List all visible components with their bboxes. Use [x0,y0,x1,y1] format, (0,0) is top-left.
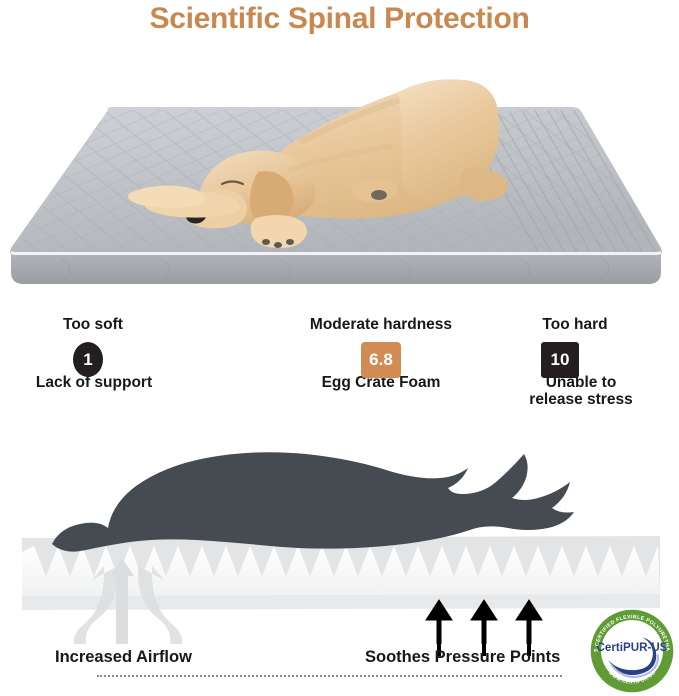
scale-badge-6-8: 6.8 [361,342,401,378]
label-soothes-pressure-points: Soothes Pressure Points [365,648,560,667]
scale-label-too-soft: Too soft [18,316,168,334]
pressure-point-arrows [426,600,542,644]
sublabel-line-2: release stress [529,391,632,408]
foam-cross-section-diagram [0,428,679,644]
product-infographic: Scientific Spinal Protection [0,0,679,696]
certipur-us-badge: CertiPUR-US CONTAINS CERTIFIED FLEXIBLE … [589,608,675,694]
scale-label-moderate: Moderate hardness [291,316,471,334]
page-title: Scientific Spinal Protection [0,2,679,36]
scale-badge-10: 10 [541,342,579,378]
product-hero-image [0,50,679,290]
badge-wordmark: CertiPUR-US [597,641,668,654]
scale-badge-1: 1 [73,342,103,377]
scale-sublabel-lack-of-support: Lack of support [0,374,188,391]
label-increased-airflow: Increased Airflow [55,648,192,667]
scale-sublabel-unable-to-release-stress: Unable to release stress [497,374,665,409]
scale-dotted-track [97,675,562,677]
scale-label-too-hard: Too hard [505,316,645,334]
